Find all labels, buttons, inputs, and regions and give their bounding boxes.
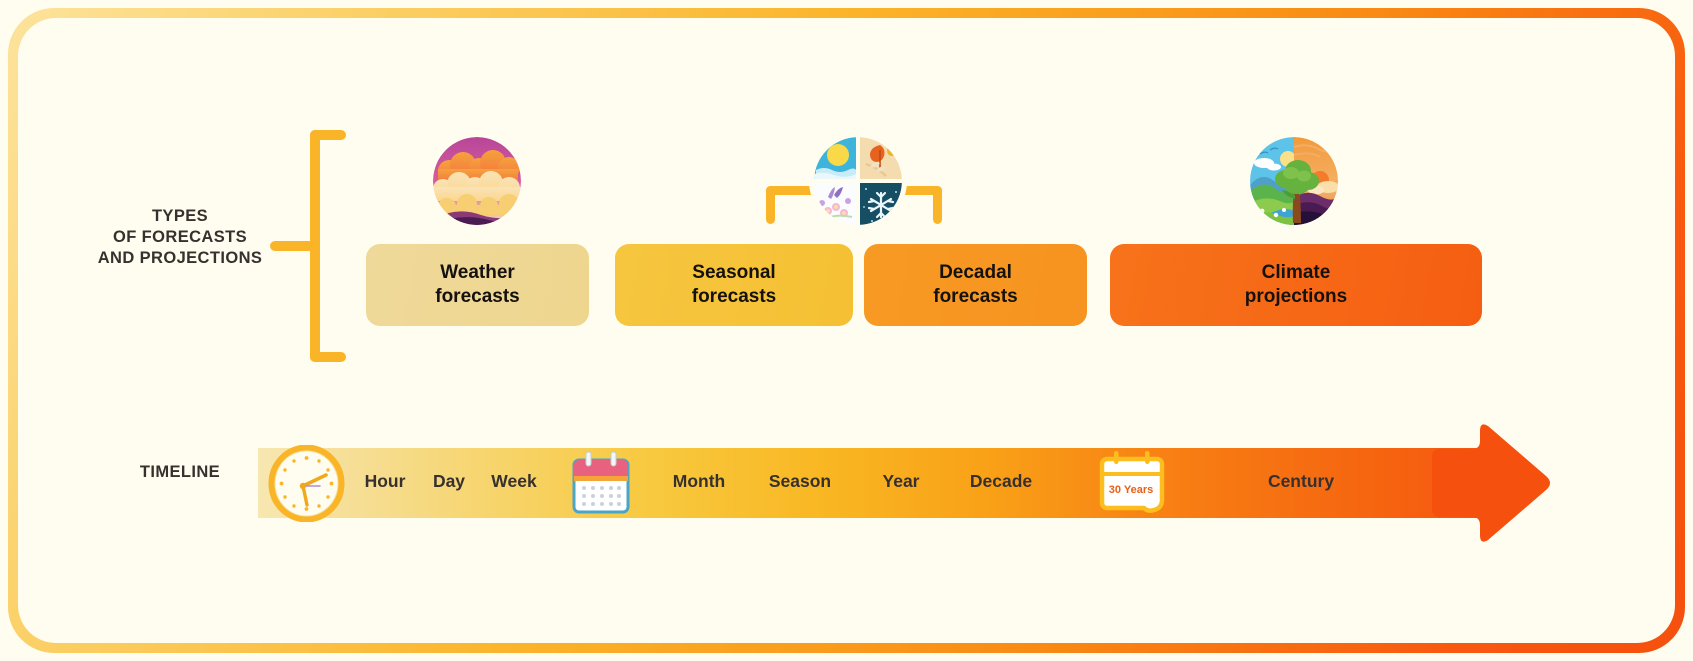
types-bracket — [290, 130, 342, 362]
climate-landscape-icon — [1250, 137, 1338, 225]
timeline-tick-month: Month — [649, 471, 749, 492]
calendar-30-years-icon: 30 Years — [1096, 450, 1168, 518]
calendar-icon — [571, 450, 631, 516]
timeline-arrow-head — [1426, 419, 1554, 547]
timeline-tick-week: Week — [464, 471, 564, 492]
card-weather-label: Weather forecasts — [435, 261, 520, 309]
timeline-tick-year: Year — [851, 471, 951, 492]
card-seasonal-forecasts[interactable]: Seasonal forecasts — [615, 244, 853, 326]
timeline-tick-century: Century — [1251, 471, 1351, 492]
card-decadal-forecasts[interactable]: Decadal forecasts — [864, 244, 1087, 326]
sunset-clouds-icon — [433, 137, 521, 225]
card-seasonal-label: Seasonal forecasts — [692, 261, 777, 309]
bracket-arm-bottom — [310, 352, 346, 362]
timeline-tick-season: Season — [750, 471, 850, 492]
timeline-row-label: TIMELINE — [70, 462, 290, 483]
four-seasons-icon — [814, 137, 902, 225]
calendar-30-years-badge: 30 Years — [1109, 484, 1153, 496]
card-weather-forecasts[interactable]: Weather forecasts — [366, 244, 589, 326]
bracket-arm-top — [310, 130, 346, 140]
clock-icon — [268, 445, 345, 522]
card-climate-projections[interactable]: Climate projections — [1110, 244, 1482, 326]
frame-inner: TYPES OF FORECASTS AND PROJECTIONS TIMEL… — [18, 18, 1675, 643]
card-decadal-label: Decadal forecasts — [933, 261, 1018, 309]
infographic-root: TYPES OF FORECASTS AND PROJECTIONS TIMEL… — [0, 0, 1693, 661]
outer-frame: TYPES OF FORECASTS AND PROJECTIONS TIMEL… — [8, 8, 1685, 653]
timeline-tick-decade: Decade — [951, 471, 1051, 492]
types-row-label: TYPES OF FORECASTS AND PROJECTIONS — [70, 206, 290, 269]
card-climate-label: Climate projections — [1245, 261, 1347, 309]
bracket-tick — [270, 241, 314, 251]
